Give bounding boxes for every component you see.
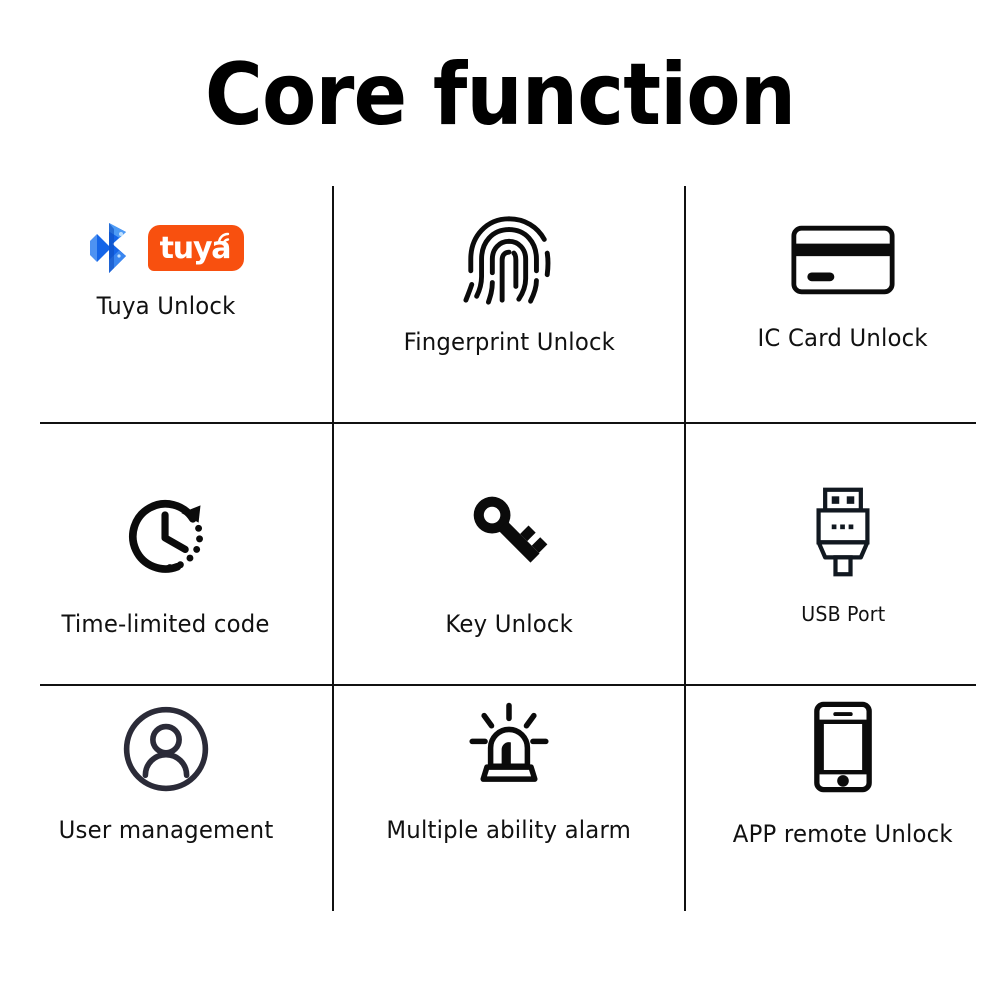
feature-cell-key-unlock[interactable]: Key Unlock xyxy=(334,424,684,684)
feature-cell-tuya-unlock[interactable]: tuya Tuya Unlock xyxy=(0,186,332,422)
user-circle-icon xyxy=(121,704,211,794)
feature-label-fingerprint-unlock: Fingerprint Unlock xyxy=(403,328,615,356)
feature-label-key-unlock: Key Unlock xyxy=(445,610,573,638)
feature-cell-app-remote-unlock[interactable]: APP remote Unlock xyxy=(686,686,1000,912)
feature-label-app-remote-unlock: APP remote Unlock xyxy=(733,820,953,848)
feature-cell-time-limited-code[interactable]: Time-limited code xyxy=(0,424,332,684)
feature-label-usb-port: USB Port xyxy=(801,602,885,626)
feature-cell-fingerprint-unlock[interactable]: Fingerprint Unlock xyxy=(334,186,684,422)
feature-label-multiple-ability-alarm: Multiple ability alarm xyxy=(387,816,632,844)
feature-cell-multiple-ability-alarm[interactable]: Multiple ability alarm xyxy=(334,686,684,912)
feature-cell-ic-card-unlock[interactable]: IC Card Unlock xyxy=(686,186,1000,422)
ic-card-icon xyxy=(790,224,896,296)
feature-label-ic-card-unlock: IC Card Unlock xyxy=(758,324,928,352)
feature-label-time-limited-code: Time-limited code xyxy=(62,610,270,638)
fingerprint-icon xyxy=(460,210,558,308)
key-icon xyxy=(463,486,555,578)
feature-cell-usb-port[interactable]: USB Port xyxy=(686,424,1000,684)
feature-label-tuya-unlock: Tuya Unlock xyxy=(97,292,236,320)
siren-alarm-icon xyxy=(463,700,555,792)
clock-arrow-icon xyxy=(118,490,214,582)
feature-cell-user-management[interactable]: User management xyxy=(0,686,332,912)
page-title: Core function xyxy=(40,52,960,138)
bluetooth-icon xyxy=(88,220,134,276)
wifi-signal-icon xyxy=(217,230,237,248)
smartphone-icon xyxy=(812,700,874,794)
feature-grid: tuya Tuya Unlock xyxy=(0,186,1000,912)
core-function-poster: Core function xyxy=(0,0,1000,1000)
tuya-logo-badge: tuya xyxy=(148,225,244,271)
bluetooth-tuya-logo: tuya xyxy=(88,220,244,276)
usb-connector-icon xyxy=(807,486,879,578)
feature-label-user-management: User management xyxy=(59,816,274,844)
